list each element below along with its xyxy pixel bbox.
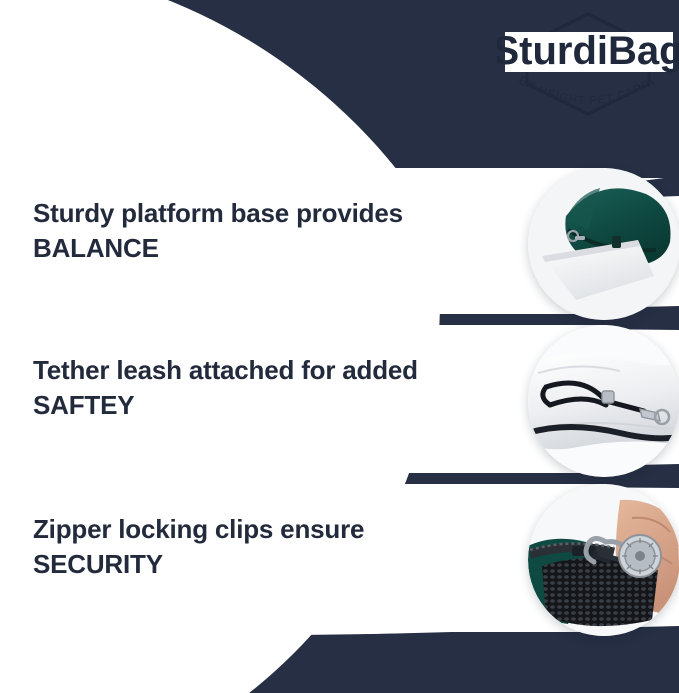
feature-line1: Tether leash attached for added [33, 355, 418, 385]
brand-logo: SturdiBag FLEX-HEIGHT PET CARRIER [497, 8, 679, 120]
feature-card-security: Zipper locking clips ensure SECURITY [0, 484, 607, 632]
feature-keyword: SAFTEY [33, 388, 503, 423]
feature-text-saftey: Tether leash attached for added SAFTEY [33, 353, 503, 422]
feature-text-balance: Sturdy platform base provides BALANCE [33, 196, 503, 265]
zipper-lock-photo [528, 484, 679, 636]
platform-base-photo [528, 168, 679, 320]
feature-card-saftey: Tether leash attached for added SAFTEY [0, 325, 607, 473]
feature-line1: Sturdy platform base provides [33, 198, 403, 228]
feature-text-security: Zipper locking clips ensure SECURITY [33, 512, 503, 581]
product-feature-infographic: SturdiBag FLEX-HEIGHT PET CARRIER Sturdy… [0, 0, 679, 693]
feature-keyword: BALANCE [33, 231, 503, 266]
feature-card-balance: Sturdy platform base provides BALANCE [0, 168, 607, 314]
brand-wordmark: SturdiBag [497, 29, 679, 73]
feature-line1: Zipper locking clips ensure [33, 514, 364, 544]
feature-keyword: SECURITY [33, 547, 503, 582]
tether-leash-photo [528, 325, 679, 477]
